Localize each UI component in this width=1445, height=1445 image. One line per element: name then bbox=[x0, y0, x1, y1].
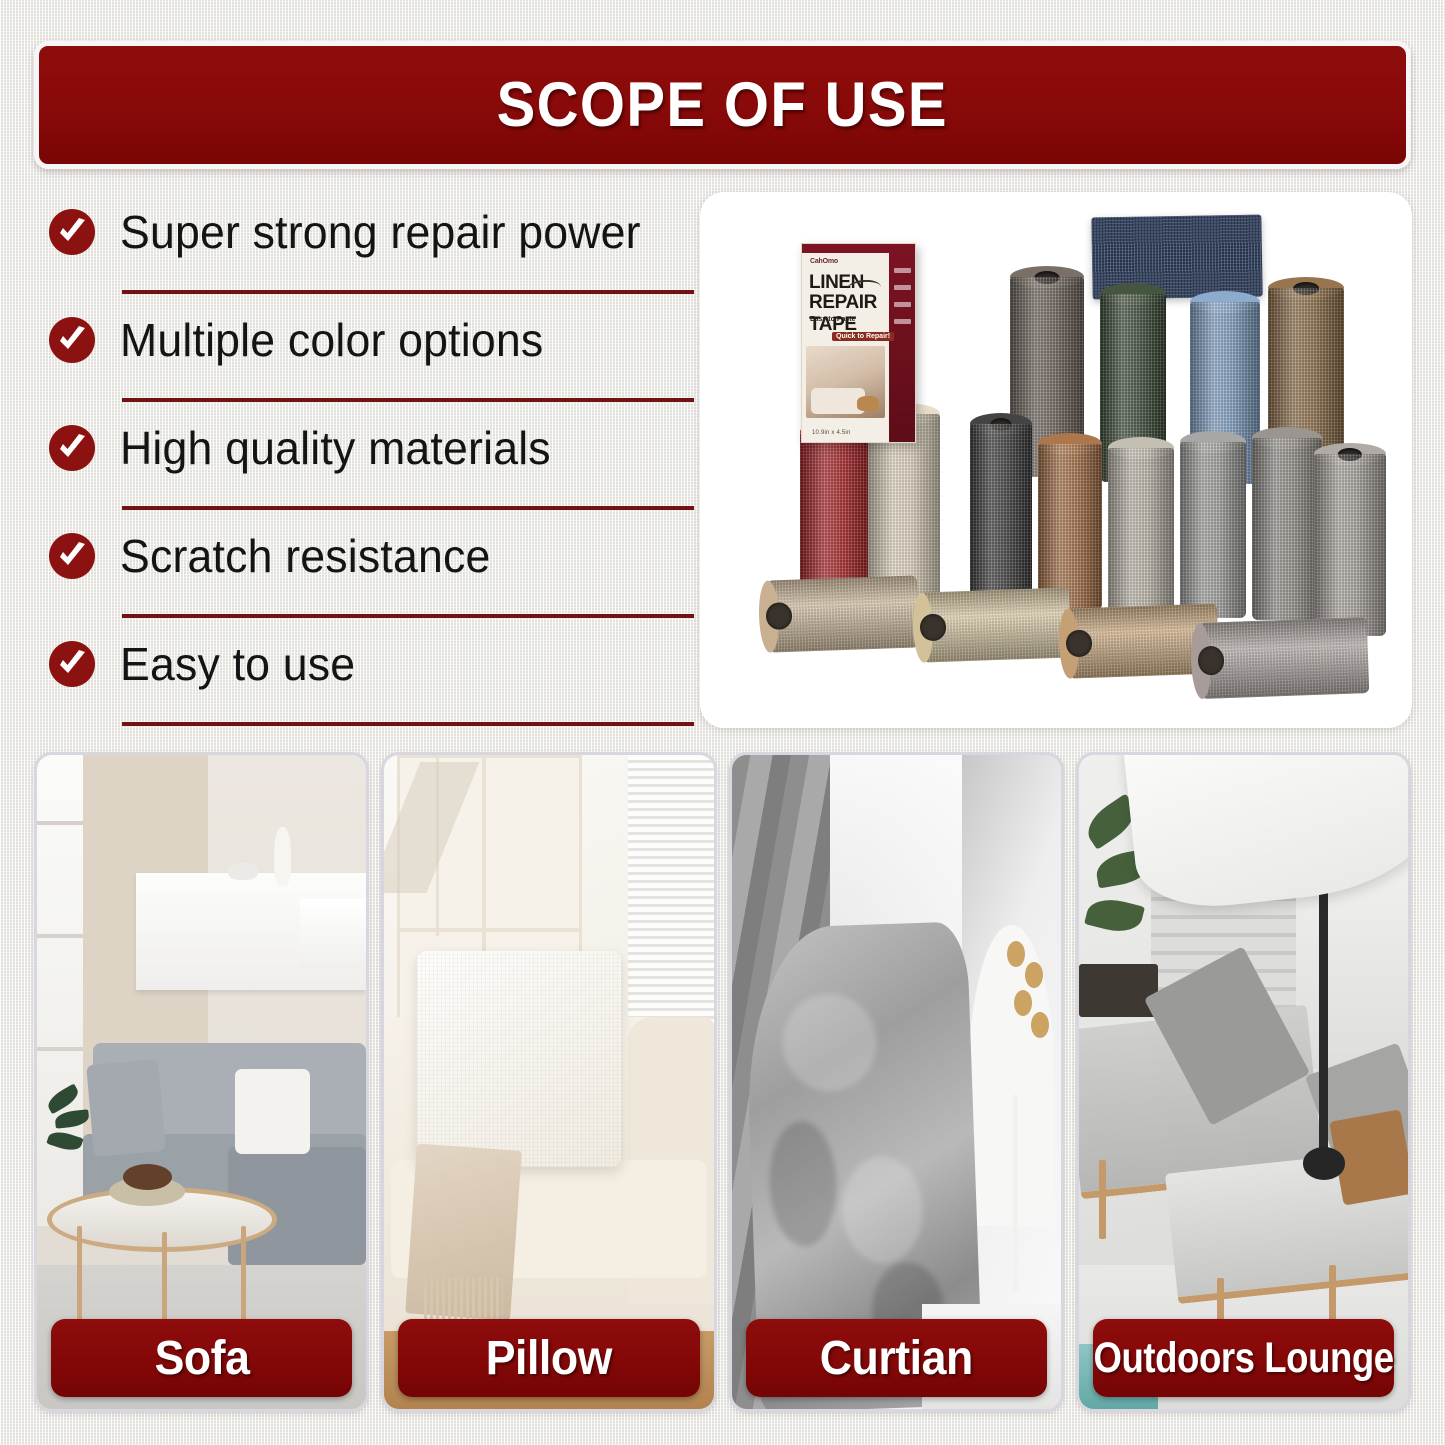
brand-logo: CahOmo bbox=[810, 258, 838, 265]
use-case-panel-outdoors-lounge[interactable]: Outdoors Lounge bbox=[1076, 752, 1411, 1412]
box-badge-quick-to-repair: Quick to Repair! bbox=[832, 332, 894, 341]
panel-caption-label: Outdoors Lounge bbox=[1093, 1334, 1393, 1383]
panel-caption-pillow: Pillow bbox=[398, 1319, 699, 1397]
tape-roll-warm-grey bbox=[1252, 438, 1322, 620]
feature-label: Super strong repair power bbox=[120, 205, 641, 259]
feature-label: Scratch resistance bbox=[120, 529, 491, 583]
use-case-panel-pillow[interactable]: Pillow bbox=[381, 752, 716, 1412]
scene-poolside-loungers bbox=[1079, 755, 1408, 1409]
panel-caption-outdoors-lounge: Outdoors Lounge bbox=[1093, 1319, 1394, 1397]
scene-draped-curtain bbox=[732, 755, 1061, 1409]
feature-label: Easy to use bbox=[120, 637, 355, 691]
scene-pillow-on-chair bbox=[384, 755, 713, 1409]
check-circle-icon bbox=[48, 208, 96, 256]
tape-roll-medium-grey bbox=[1180, 442, 1246, 618]
check-circle-icon bbox=[48, 316, 96, 364]
feature-divider bbox=[122, 290, 694, 294]
panel-caption-label: Sofa bbox=[154, 1331, 249, 1386]
feature-item: Scratch resistance bbox=[44, 516, 684, 624]
feature-divider bbox=[122, 722, 694, 726]
tape-roll-lying-ivory bbox=[921, 587, 1071, 662]
feature-divider bbox=[122, 614, 694, 618]
panel-caption-sofa: Sofa bbox=[51, 1319, 352, 1397]
page-title: SCOPE OF USE bbox=[497, 69, 948, 141]
check-circle-icon bbox=[48, 640, 96, 688]
feature-item: Multiple color options bbox=[44, 300, 684, 408]
feature-item: Super strong repair power bbox=[44, 192, 684, 300]
box-badge-easy-to-paste: Easy to Paste bbox=[810, 316, 856, 323]
use-case-panel-curtain[interactable]: Curtian bbox=[729, 752, 1064, 1412]
box-title-line2: REPAIR TAPE bbox=[809, 292, 915, 336]
feature-label: Multiple color options bbox=[120, 313, 543, 367]
box-side-panel bbox=[889, 244, 915, 442]
use-case-panels: Sofa Pillow bbox=[34, 752, 1411, 1412]
feature-item: High quality materials bbox=[44, 408, 684, 516]
feature-divider bbox=[122, 506, 694, 510]
tape-roll-lying-beige bbox=[767, 575, 919, 652]
panel-caption-curtain: Curtian bbox=[746, 1319, 1047, 1397]
use-case-panel-sofa[interactable]: Sofa bbox=[34, 752, 369, 1412]
feature-list: Super strong repair power Multiple color… bbox=[44, 192, 684, 732]
header-banner: SCOPE OF USE bbox=[34, 41, 1411, 169]
tape-roll-rust-brown bbox=[1038, 444, 1102, 610]
check-circle-icon bbox=[48, 424, 96, 472]
tape-roll-light-grey bbox=[1108, 448, 1174, 618]
box-lifestyle-photo bbox=[806, 346, 885, 418]
check-circle-icon bbox=[48, 532, 96, 580]
tape-rolls-arrangement: CahOmo LINEN REPAIR TAPE Easy to Paste Q… bbox=[700, 192, 1412, 728]
panel-caption-label: Curtian bbox=[820, 1331, 973, 1386]
tape-roll-stone-grey bbox=[1314, 454, 1386, 636]
feature-divider bbox=[122, 398, 694, 402]
tape-roll-lying-mauve-grey bbox=[1199, 617, 1370, 699]
product-box: CahOmo LINEN REPAIR TAPE Easy to Paste Q… bbox=[801, 243, 916, 443]
box-size-spec: 10.9in x 4.5in bbox=[812, 430, 851, 436]
panel-caption-label: Pillow bbox=[486, 1331, 612, 1386]
tape-roll-charcoal bbox=[970, 424, 1032, 602]
product-photo-card: CahOmo LINEN REPAIR TAPE Easy to Paste Q… bbox=[700, 192, 1412, 728]
feature-item: Easy to use bbox=[44, 624, 684, 732]
scene-living-room-sofa bbox=[37, 755, 366, 1409]
box-top-strip bbox=[802, 244, 889, 253]
feature-label: High quality materials bbox=[120, 421, 551, 475]
